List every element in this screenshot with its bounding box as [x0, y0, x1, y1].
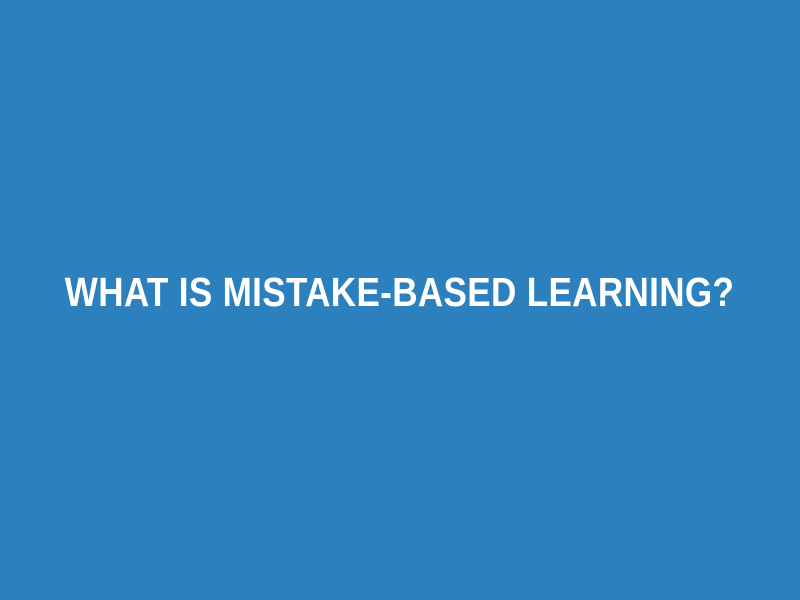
headline-block: WHAT IS MISTAKE-BASED LEARNING? — [0, 271, 800, 314]
title-card: WHAT IS MISTAKE-BASED LEARNING? — [0, 0, 800, 600]
headline-text: WHAT IS MISTAKE-BASED LEARNING? — [65, 271, 734, 314]
